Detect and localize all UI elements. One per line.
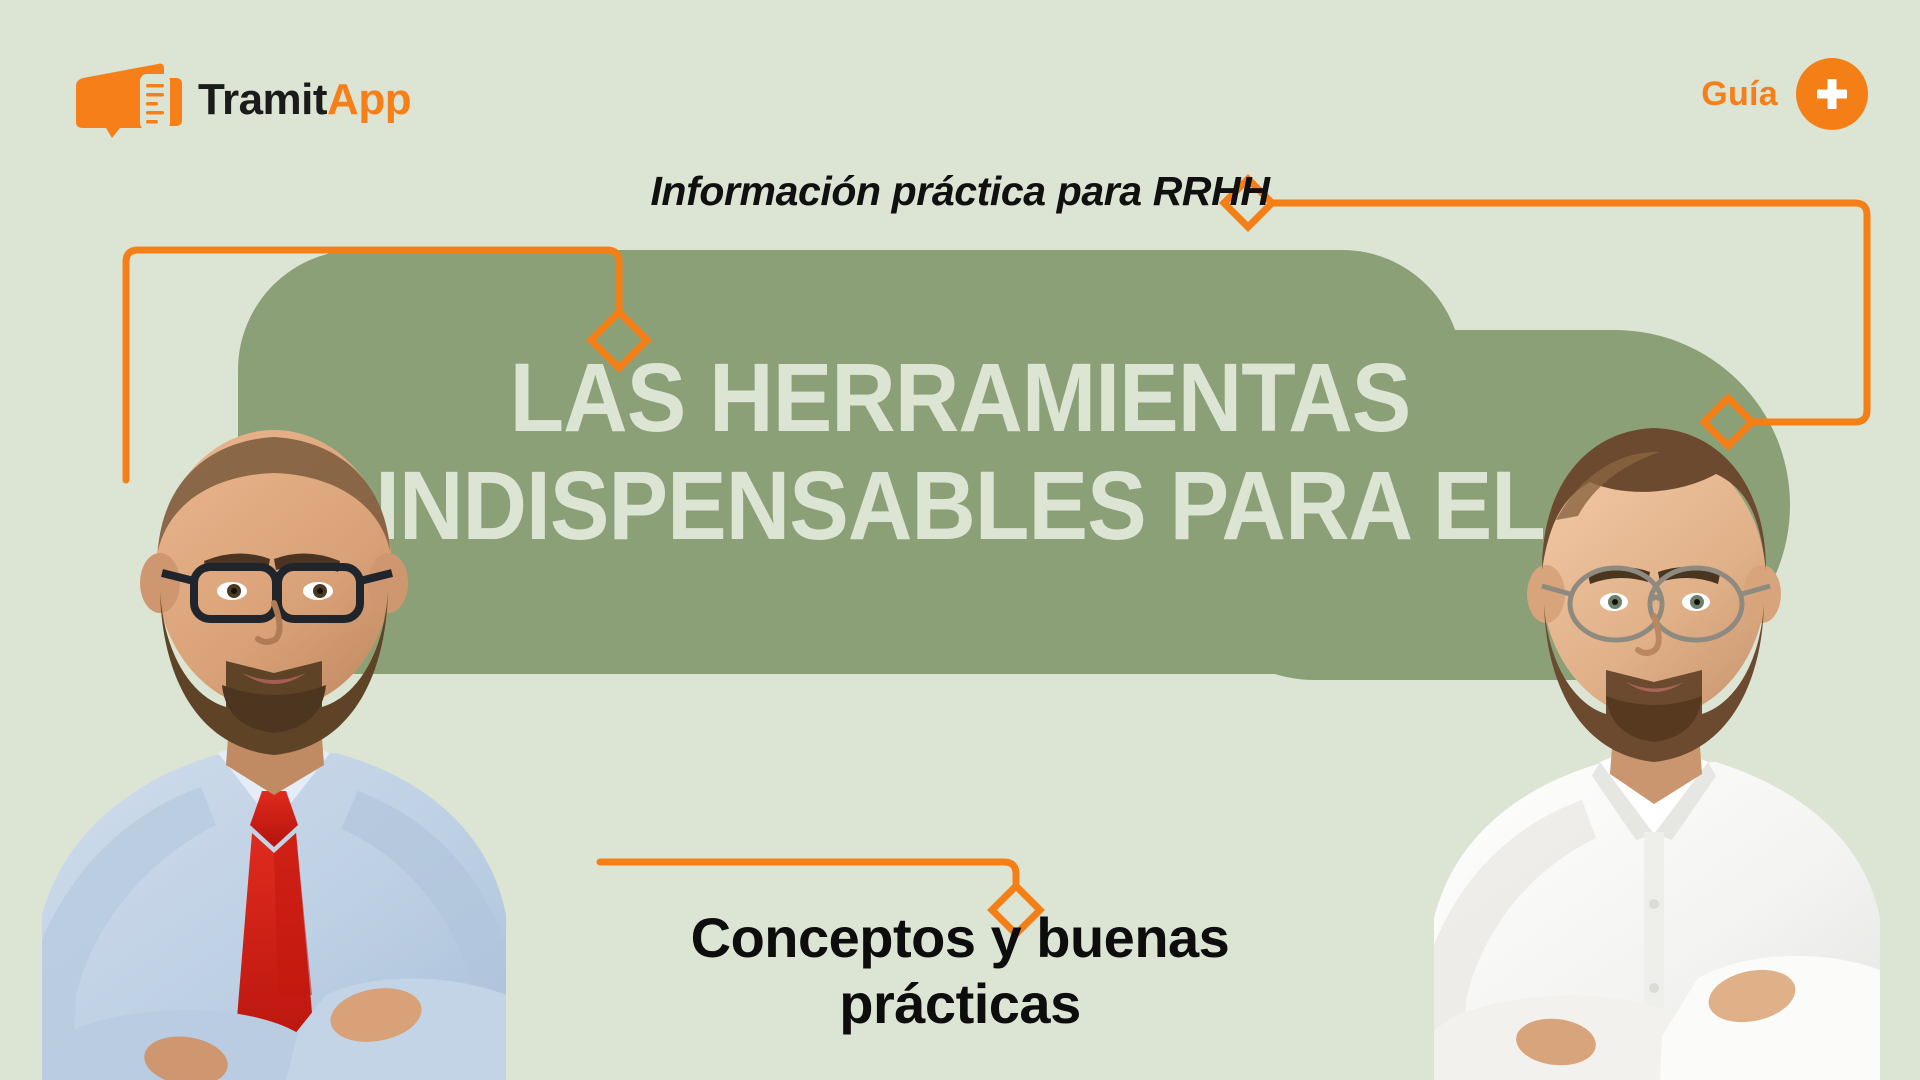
brand-name-accent: App (327, 75, 411, 124)
brand-logo[interactable]: TramitApp (72, 62, 411, 138)
subtitle-line-1: Conceptos y buenas (691, 906, 1230, 969)
speech-bubble-document-icon (72, 62, 184, 138)
guide-button-label: Guía (1701, 75, 1778, 114)
guide-button[interactable]: Guía (1701, 58, 1868, 130)
slide-canvas: TramitApp Guía Información práctica para… (0, 0, 1920, 1080)
bracket-path-bottom (600, 862, 1016, 886)
kicker-text: Información práctica para RRHH (0, 168, 1920, 215)
subtitle-line-2: prácticas (0, 971, 1920, 1037)
subtitle-caption: Conceptos y buenas prácticas (0, 905, 1920, 1037)
plus-icon[interactable] (1796, 58, 1868, 130)
brand-name-primary: Tramit (198, 75, 327, 124)
brand-logo-text: TramitApp (198, 78, 411, 122)
